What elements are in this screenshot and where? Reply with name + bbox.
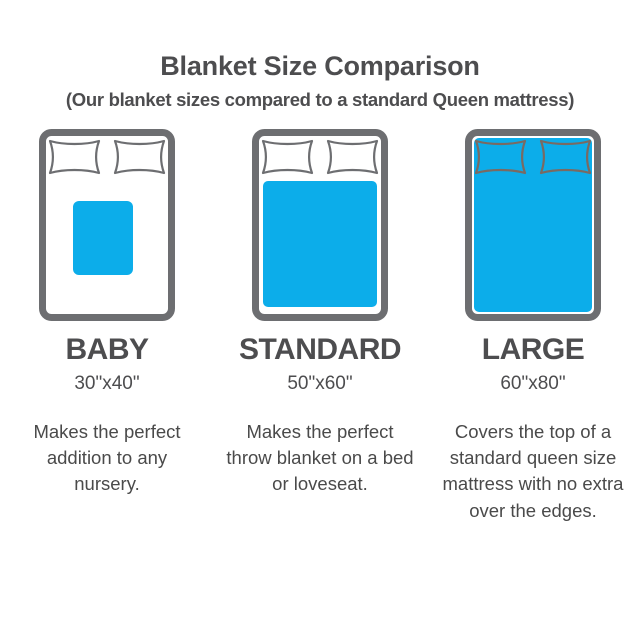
blanket-shape-large [474, 138, 592, 312]
size-description-baby: Makes the perfect addition to any nurser… [12, 419, 202, 498]
blanket-shape-baby [73, 201, 133, 275]
size-description-large: Covers the top of a standard queen size … [438, 419, 628, 524]
size-name-standard: STANDARD [239, 335, 401, 365]
bed-diagram-standard [252, 129, 388, 321]
size-description-standard: Makes the perfect throw blanket on a bed… [225, 419, 415, 498]
bed-diagram-baby [39, 129, 175, 321]
blanket-size-comparison-infographic: Blanket Size Comparison (Our blanket siz… [0, 0, 640, 640]
bed-diagram-large [465, 129, 601, 321]
pillow-left-icon [263, 141, 312, 173]
comparison-column-baby: BABY 30"x40" Makes the perfect addition … [1, 129, 214, 498]
page-subtitle: (Our blanket sizes compared to a standar… [0, 88, 640, 111]
size-name-large: LARGE [482, 335, 585, 365]
comparison-columns: BABY 30"x40" Makes the perfect addition … [0, 129, 640, 524]
header: Blanket Size Comparison (Our blanket siz… [0, 0, 640, 111]
size-dimensions-large: 60"x80" [500, 374, 565, 393]
pillow-right-icon [115, 141, 164, 173]
comparison-column-large: LARGE 60"x80" Covers the top of a standa… [427, 129, 640, 524]
pillow-right-icon [328, 141, 377, 173]
blanket-shape-standard [263, 181, 377, 307]
size-dimensions-standard: 50"x60" [287, 374, 352, 393]
page-title: Blanket Size Comparison [0, 52, 640, 82]
size-dimensions-baby: 30"x40" [74, 374, 139, 393]
pillow-left-icon [50, 141, 99, 173]
size-name-baby: BABY [65, 335, 148, 365]
comparison-column-standard: STANDARD 50"x60" Makes the perfect throw… [214, 129, 427, 498]
